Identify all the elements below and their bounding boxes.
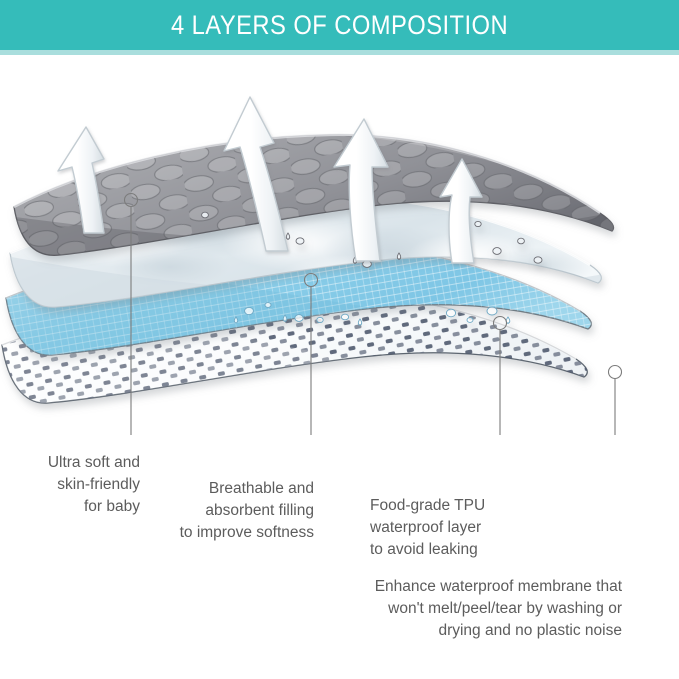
callout-tpu-layer: Food-grade TPU waterproof layer to avoid… — [370, 495, 512, 561]
leader-line-membrane — [609, 366, 622, 436]
infographic-page: 4 LAYERS OF COMPOSITION — [0, 0, 679, 679]
page-title: 4 LAYERS OF COMPOSITION — [41, 0, 639, 50]
callout-membrane-layer: Enhance waterproof membrane that won't m… — [322, 576, 622, 642]
callout-filling-layer: Breathable and absorbent filling to impr… — [168, 478, 314, 544]
callout-top-layer: Ultra soft and skin-friendly for baby — [20, 452, 140, 518]
layers-illustration — [0, 55, 679, 435]
